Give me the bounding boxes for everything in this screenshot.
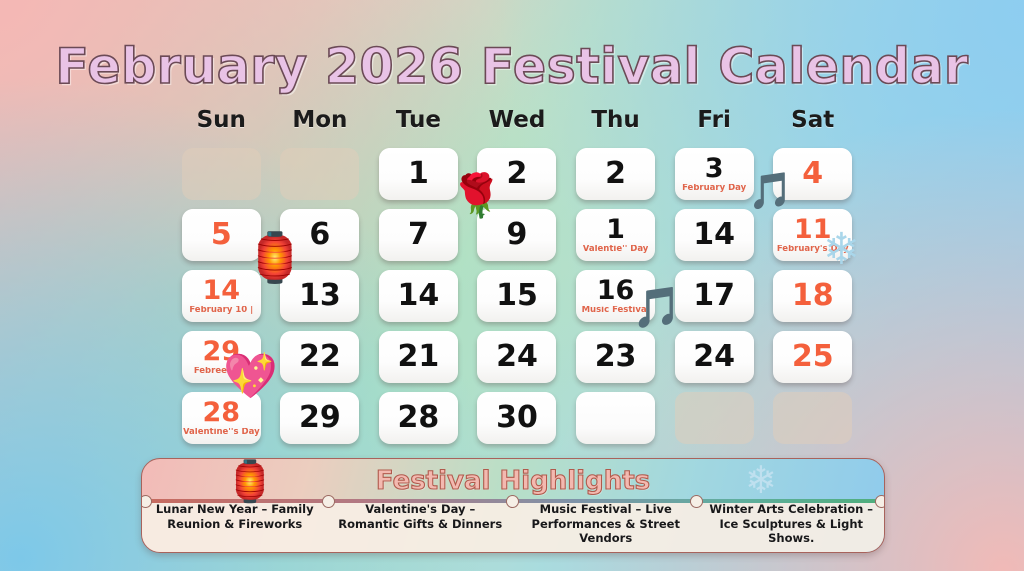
calendar-day-cell-3[interactable]: 3February Day [675,148,754,200]
calendar-cell-wrap: 18 [763,265,862,326]
calendar-day-cell-1[interactable]: 1Valentie'' Day [576,209,655,261]
page-title: February 2026 Festival Calendar [0,38,1024,95]
calendar-day-cell-22[interactable]: 22 [280,331,359,383]
calendar-empty-cell [675,392,754,444]
highlight-item: Music Festival – Live Performances & Str… [513,502,699,546]
calendar-day-cell-28[interactable]: 28 [379,392,458,444]
calendar-day-cell-17[interactable]: 17 [675,270,754,322]
weekday-fri: Fri [665,107,764,133]
day-event-label: Valentie'' Day [583,245,649,254]
calendar-day-cell-28[interactable]: 28Valentine''s Day [182,392,261,444]
weekday-tue: Tue [369,107,468,133]
day-number: 29 [299,403,341,433]
calendar-day-cell-15[interactable]: 15 [477,270,556,322]
calendar-cell-wrap: 21 [369,326,468,387]
day-number: 14 [693,220,735,250]
calendar-day-cell-16[interactable]: 16Music Festival [576,270,655,322]
calendar-day-cell-18[interactable]: 18 [773,270,852,322]
day-number: 15 [496,281,538,311]
calendar-cell-wrap: 1Valentie'' Day [566,204,665,265]
calendar-cell-wrap: 6 [271,204,370,265]
calendar-day-cell-21[interactable]: 21 [379,331,458,383]
day-number: 2 [507,159,528,189]
day-number: 11 [794,216,832,243]
highlights-title: Festival Highlights [142,466,884,496]
day-number: 9 [507,220,528,250]
calendar-cell-wrap [665,387,764,448]
day-number: 17 [693,281,735,311]
calendar-day-cell-2[interactable]: 2 [576,148,655,200]
day-event-label: February 10 | [189,306,253,315]
calendar-cell-wrap [172,143,271,204]
calendar-cell-wrap: 30 [468,387,567,448]
calendar-cell-wrap: 7 [369,204,468,265]
calendar-poster: February 2026 Festival Calendar SunMonTu… [0,0,1024,571]
calendar-cell-wrap [763,387,862,448]
day-number: 21 [398,342,440,372]
day-number: 28 [202,399,240,426]
calendar-empty-cell [576,392,655,444]
day-number: 24 [693,342,735,372]
calendar-day-cell-5[interactable]: 5 [182,209,261,261]
day-event-label: February Day [682,184,746,193]
calendar-day-cell-23[interactable]: 23 [576,331,655,383]
calendar-day-cell-24[interactable]: 24 [477,331,556,383]
day-number: 22 [299,342,341,372]
calendar-empty-cell [182,148,261,200]
calendar-cell-wrap: 29 [271,387,370,448]
calendar-cell-wrap: 13 [271,265,370,326]
day-number: 25 [792,342,834,372]
calendar-cell-wrap [271,143,370,204]
calendar-cell-wrap: 16Music Festival [566,265,665,326]
day-event-label: Febreetnua [194,367,249,376]
calendar-cell-wrap: 2 [468,143,567,204]
calendar-grid: 1223February Day456791Valentie'' Day1411… [172,143,862,448]
calendar-day-cell-11[interactable]: 11February's Day [773,209,852,261]
day-number: 14 [202,277,240,304]
day-number: 2 [605,159,626,189]
calendar-cell-wrap: 5 [172,204,271,265]
calendar-day-cell-2[interactable]: 2 [477,148,556,200]
calendar-cell-wrap: 14 [665,204,764,265]
day-number: 13 [299,281,341,311]
calendar-cell-wrap: 3February Day [665,143,764,204]
day-number: 29 [202,338,240,365]
calendar-cell-wrap: 9 [468,204,567,265]
calendar-cell-wrap: 22 [271,326,370,387]
day-event-label: Valentine''s Day [183,428,260,437]
calendar-cell-wrap: 15 [468,265,567,326]
weekday-mon: Mon [271,107,370,133]
calendar-empty-cell [280,148,359,200]
calendar-day-cell-7[interactable]: 7 [379,209,458,261]
day-number: 28 [398,403,440,433]
day-number: 6 [309,220,330,250]
weekday-sun: Sun [172,107,271,133]
day-number: 14 [398,281,440,311]
calendar-day-cell-13[interactable]: 13 [280,270,359,322]
weekday-wed: Wed [468,107,567,133]
festival-highlights-panel: Festival Highlights Lunar New Year – Fam… [141,458,885,553]
calendar-cell-wrap: 1 [369,143,468,204]
calendar-cell-wrap: 28Valentine''s Day [172,387,271,448]
day-number: 16 [597,277,635,304]
day-number: 30 [496,403,538,433]
day-number: 24 [496,342,538,372]
highlights-list: Lunar New Year – Family Reunion & Firewo… [142,502,884,546]
calendar-day-cell-30[interactable]: 30 [477,392,556,444]
calendar-day-cell-29[interactable]: 29 [280,392,359,444]
weekday-sat: Sat [763,107,862,133]
calendar-day-cell-14[interactable]: 14 [379,270,458,322]
highlight-item: Lunar New Year – Family Reunion & Firewo… [142,502,328,546]
calendar-day-cell-25[interactable]: 25 [773,331,852,383]
calendar-cell-wrap [566,387,665,448]
calendar-cell-wrap: 24 [665,326,764,387]
day-event-label: Music Festival [582,306,650,315]
calendar-cell-wrap: 23 [566,326,665,387]
calendar-empty-cell [773,392,852,444]
calendar-cell-wrap: 28 [369,387,468,448]
calendar-day-cell-6[interactable]: 6 [280,209,359,261]
highlight-item: Winter Arts Celebration – Ice Sculptures… [699,502,885,546]
calendar-day-cell-14[interactable]: 14February 10 | [182,270,261,322]
calendar-cell-wrap: 11February's Day [763,204,862,265]
day-event-label: February's Day [777,245,849,254]
calendar-day-cell-14[interactable]: 14 [675,209,754,261]
day-number: 18 [792,281,834,311]
calendar-cell-wrap: 2 [566,143,665,204]
calendar-day-cell-24[interactable]: 24 [675,331,754,383]
calendar-day-cell-4[interactable]: 4 [773,148,852,200]
weekday-thu: Thu [566,107,665,133]
calendar-day-cell-9[interactable]: 9 [477,209,556,261]
calendar-cell-wrap: 24 [468,326,567,387]
calendar-cell-wrap: 17 [665,265,764,326]
calendar-cell-wrap: 25 [763,326,862,387]
weekday-header-row: SunMonTueWedThuFriSat [172,107,862,133]
day-number: 1 [606,216,625,243]
calendar-day-cell-29[interactable]: 29Febreetnua [182,331,261,383]
calendar-cell-wrap: 14February 10 | [172,265,271,326]
calendar-day-cell-1[interactable]: 1 [379,148,458,200]
calendar-cell-wrap: 4 [763,143,862,204]
calendar-cell-wrap: 14 [369,265,468,326]
day-number: 3 [705,155,724,182]
day-number: 5 [211,220,232,250]
calendar-cell-wrap: 29Febreetnua [172,326,271,387]
day-number: 23 [595,342,637,372]
highlight-item: Valentine's Day – Romantic Gifts & Dinne… [328,502,514,546]
day-number: 4 [802,159,823,189]
day-number: 7 [408,220,429,250]
day-number: 1 [408,159,429,189]
